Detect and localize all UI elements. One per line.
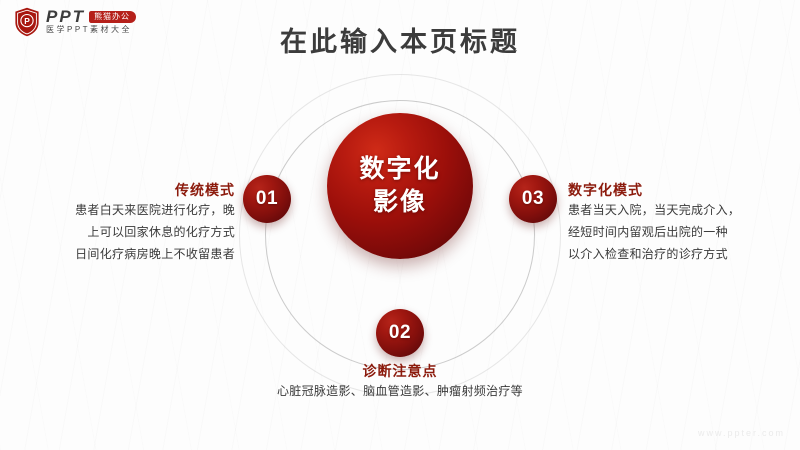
- node-body-03-line-3: 以介入检查和治疗的诊疗方式: [568, 243, 786, 265]
- node-badge-03[interactable]: 03: [509, 175, 557, 223]
- node-text-block-03: 数字化模式 患者当天入院，当天完成介入， 经短时间内留观后出院的一种 以介入检查…: [568, 182, 786, 265]
- node-badge-01[interactable]: 01: [243, 175, 291, 223]
- node-body-03-line-1: 患者当天入院，当天完成介入，: [568, 199, 786, 221]
- node-body-02-line-1: 心脏冠脉造影、脑血管造影、肿瘤射频治疗等: [240, 380, 560, 403]
- site-watermark: www.ppter.com: [698, 428, 785, 438]
- node-body-03-line-2: 经短时间内留观后出院的一种: [568, 221, 786, 243]
- node-text-block-02: 诊断注意点 心脏冠脉造影、脑血管造影、肿瘤射频治疗等: [240, 363, 560, 403]
- node-body-03: 患者当天入院，当天完成介入， 经短时间内留观后出院的一种 以介入检查和治疗的诊疗…: [568, 199, 786, 266]
- node-body-01-line-1: 患者白天来医院进行化疗，晚: [20, 199, 235, 221]
- node-text-block-01: 传统模式 患者白天来医院进行化疗，晚 上可以回家休息的化疗方式 日间化疗病房晚上…: [20, 182, 235, 265]
- node-body-01-line-2: 上可以回家休息的化疗方式: [20, 221, 235, 243]
- node-body-02: 心脏冠脉造影、脑血管造影、肿瘤射频治疗等: [240, 380, 560, 403]
- node-body-01-line-3: 日间化疗病房晚上不收留患者: [20, 243, 235, 265]
- node-badge-02[interactable]: 02: [376, 309, 424, 357]
- page-title: 在此输入本页标题: [0, 20, 800, 59]
- center-title-line-1: 数字化: [359, 153, 440, 186]
- slide-canvas: P PPT 熊猫办公 医学PPT素材大全 在此输入本页标题 数字化 影像 01 …: [0, 0, 800, 450]
- node-heading-03: 数字化模式: [568, 182, 786, 199]
- node-heading-02: 诊断注意点: [240, 363, 560, 380]
- node-heading-01: 传统模式: [20, 182, 235, 199]
- center-sphere[interactable]: 数字化 影像: [327, 113, 473, 259]
- center-title-line-2: 影像: [373, 186, 427, 219]
- node-body-01: 患者白天来医院进行化疗，晚 上可以回家休息的化疗方式 日间化疗病房晚上不收留患者: [20, 199, 235, 266]
